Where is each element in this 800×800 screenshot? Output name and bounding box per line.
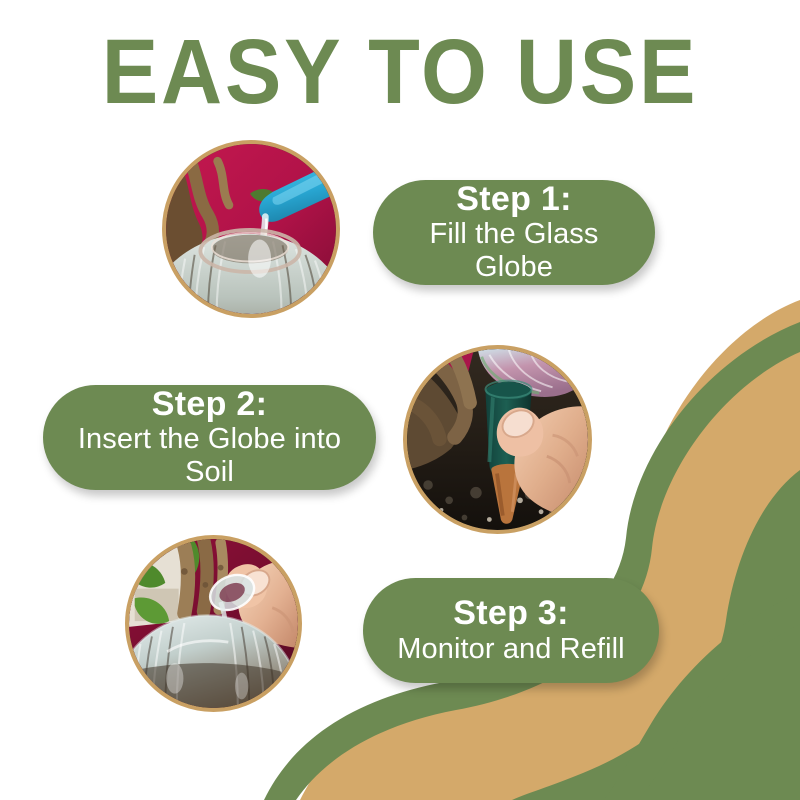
step-2-photo-image xyxy=(407,349,588,530)
step-2-photo xyxy=(403,345,592,534)
infographic-page: EASY TO USE xyxy=(0,0,800,800)
step-1-pill: Step 1: Fill the Glass Globe xyxy=(373,180,655,285)
step-1-photo-image xyxy=(166,144,336,314)
step-3-pill: Step 3: Monitor and Refill xyxy=(363,578,659,683)
step-1-heading: Step 1: xyxy=(456,181,571,218)
step-3-photo xyxy=(125,535,302,712)
page-title: EASY TO USE xyxy=(32,26,768,118)
step-3-body: Monitor and Refill xyxy=(397,633,624,666)
step-2-pill: Step 2: Insert the Globe into Soil xyxy=(43,385,376,490)
step-2-heading: Step 2: xyxy=(152,386,267,423)
step-3-heading: Step 3: xyxy=(453,595,568,632)
step-3-photo-image xyxy=(129,539,298,708)
step-1-body: Fill the Glass Globe xyxy=(389,218,639,284)
step-1-photo xyxy=(162,140,340,318)
step-2-body: Insert the Globe into Soil xyxy=(59,423,360,489)
